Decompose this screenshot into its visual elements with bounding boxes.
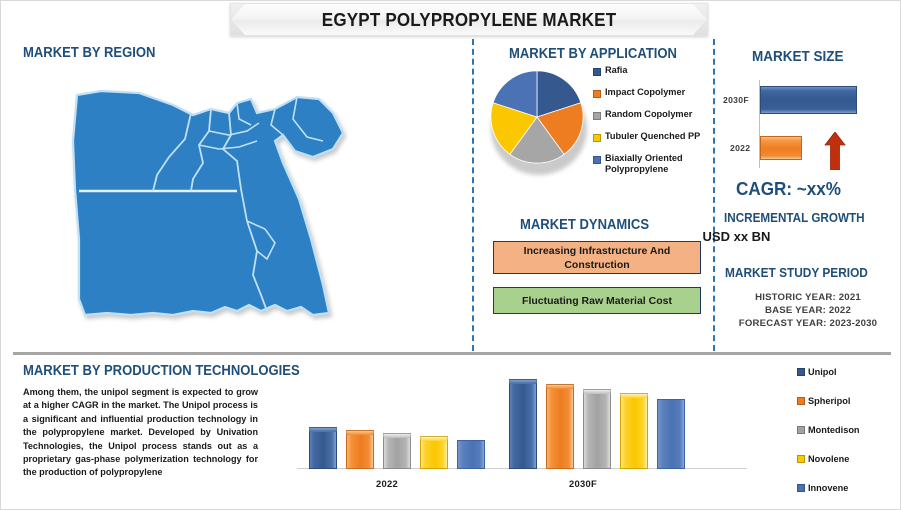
infographic-page: EGYPT POLYPROPYLENE MARKET MARKET BY REG…: [0, 0, 901, 510]
bar-unipol-2022: [309, 427, 337, 469]
legend-swatch-unipol: [797, 368, 805, 376]
legend-label: Novolene: [808, 454, 849, 464]
production-heading: MARKET BY PRODUCTION TECHNOLOGIES: [23, 363, 300, 379]
legend-swatch-novolene: [797, 455, 805, 463]
legend-swatch-random-copolymer: [593, 112, 601, 120]
legend-label: Unipol: [808, 367, 837, 377]
historic-year: HISTORIC YEAR: 2021: [723, 292, 893, 303]
legend-item: Novolene: [797, 454, 897, 464]
legend-swatch-montedison: [797, 426, 805, 434]
bar-novolene-2022: [420, 436, 448, 469]
region-heading: MARKET BY REGION: [23, 45, 155, 61]
bar-unipol-2030f: [509, 379, 537, 469]
dynamics-restraint-box: Fluctuating Raw Material Cost: [493, 287, 701, 314]
production-description: Among them, the unipol segment is expect…: [23, 386, 258, 480]
legend-item: Unipol: [797, 367, 897, 377]
bar-cap: [583, 389, 611, 394]
application-heading: MARKET BY APPLICATION: [509, 46, 677, 62]
bar-spheripol-2022: [346, 430, 374, 469]
dynamics-driver-box: Increasing Infrastructure And Constructi…: [493, 241, 701, 274]
cagr-value: CAGR: ~xx%: [736, 179, 841, 200]
growth-arrow-icon: [824, 132, 846, 170]
legend-item: Random Copolymer: [593, 109, 717, 120]
incremental-growth-value: USD xx BN: [703, 229, 771, 244]
legend-swatch-impact-copolymer: [593, 90, 601, 98]
market-size-bar-2022: [760, 136, 802, 160]
legend-item: Biaxially Oriented Polypropylene: [593, 153, 717, 175]
legend-swatch-tubuler-quenched-pp: [593, 134, 601, 142]
bar-cap: [383, 433, 411, 438]
bar-cap: [346, 430, 374, 435]
incremental-growth-value-wrap: USD xx BN: [1, 229, 901, 244]
legend-item: Rafia: [593, 65, 717, 76]
forecast-year: FORECAST YEAR: 2023-2030: [723, 318, 893, 329]
legend-label: Montedison: [808, 425, 860, 435]
bar-novolene-2030f: [620, 393, 648, 469]
legend-swatch-biaxially-oriented-polypropylene: [593, 156, 601, 164]
divider-region-application: [472, 39, 474, 351]
legend-item: Montedison: [797, 425, 897, 435]
bar-montedison-2022: [383, 433, 411, 469]
market-size-bar-2030f: [760, 86, 857, 114]
bar-cap: [309, 427, 337, 432]
legend-swatch-innovene: [797, 484, 805, 492]
bar-montedison-2030f: [583, 389, 611, 469]
bar-cap: [620, 393, 648, 398]
application-pie-chart: [489, 69, 589, 181]
axis-label-2030f: 2030F: [553, 478, 613, 489]
legend-label: Tubuler Quenched PP: [605, 131, 700, 142]
legend-label: Biaxially Oriented Polypropylene: [605, 153, 705, 175]
legend-item: Impact Copolymer: [593, 87, 717, 98]
market-size-tick-2030f: 2030F: [723, 95, 749, 105]
application-legend: Rafia Impact Copolymer Random Copolymer …: [593, 65, 717, 186]
production-legend: Unipol Spheripol Montedison Novolene Inn…: [797, 367, 897, 510]
title-banner: EGYPT POLYPROPYLENE MARKET: [230, 3, 708, 36]
base-year: BASE YEAR: 2022: [723, 305, 893, 316]
production-bar-chart: 2022 2030F: [297, 379, 767, 491]
page-title: EGYPT POLYPROPYLENE MARKET: [322, 9, 617, 31]
axis-label-2022: 2022: [357, 478, 417, 489]
legend-item: Spheripol: [797, 396, 897, 406]
legend-swatch-spheripol: [797, 397, 805, 405]
market-size-tick-2022: 2022: [730, 143, 750, 153]
market-size-chart: 2030F 2022: [723, 76, 883, 171]
legend-item: Tubuler Quenched PP: [593, 131, 717, 142]
legend-label: Spheripol: [808, 396, 850, 406]
bar-cap: [546, 384, 574, 389]
bar-cap: [420, 436, 448, 441]
incremental-growth-heading: INCREMENTAL GROWTH: [724, 210, 865, 225]
market-size-heading: MARKET SIZE: [752, 48, 844, 65]
legend-swatch-rafia: [593, 68, 601, 76]
legend-label: Impact Copolymer: [605, 87, 685, 98]
bar-spheripol-2030f: [546, 384, 574, 469]
divider-horizontal: [13, 352, 891, 355]
legend-label: Random Copolymer: [605, 109, 692, 120]
bar-innovene-2030f: [657, 399, 685, 469]
bar-innovene-2022: [457, 440, 485, 469]
legend-label: Innovene: [808, 483, 848, 493]
egypt-map: [61, 79, 351, 329]
legend-item: Innovene: [797, 483, 897, 493]
legend-label: Rafia: [605, 65, 627, 76]
bar-cap: [509, 379, 537, 384]
market-study-period-heading: MARKET STUDY PERIOD: [725, 265, 868, 280]
